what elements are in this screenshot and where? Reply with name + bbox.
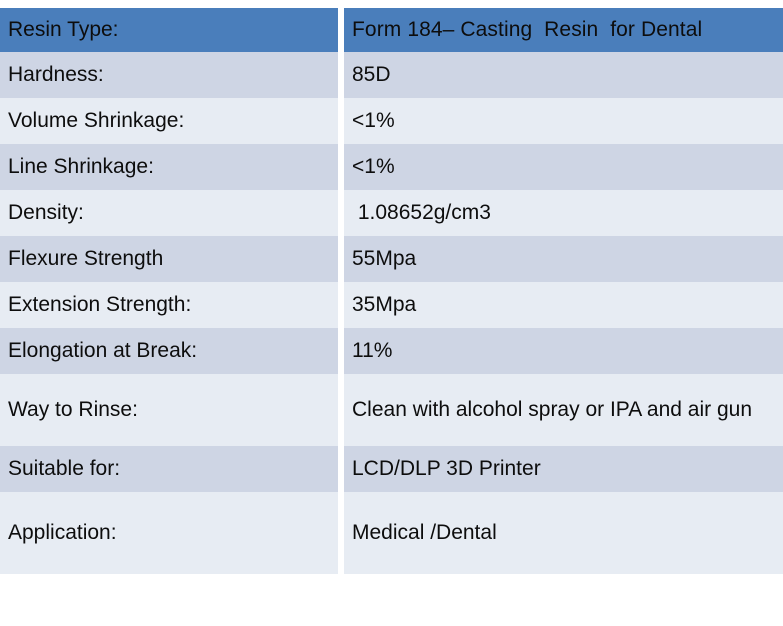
row-value-density: 1.08652g/cm3 [344,190,783,236]
row-value-suitable-for: LCD/DLP 3D Printer [344,446,783,492]
table-header-row: Resin Type: Form 184– Casting Resin for … [0,8,783,52]
row-label-way-to-rinse: Way to Rinse: [0,374,338,446]
row-value-application: Medical /Dental [344,492,783,574]
table-row: Hardness: 85D [0,52,783,98]
row-value-line-shrinkage: <1% [344,144,783,190]
table-row: Volume Shrinkage: <1% [0,98,783,144]
table-row: Extension Strength: 35Mpa [0,282,783,328]
table-row: Line Shrinkage: <1% [0,144,783,190]
row-value-way-to-rinse: Clean with alcohol spray or IPA and air … [344,374,783,446]
table-row: Elongation at Break: 11% [0,328,783,374]
row-label-elongation-at-break: Elongation at Break: [0,328,338,374]
row-value-hardness: 85D [344,52,783,98]
row-label-suitable-for: Suitable for: [0,446,338,492]
table-row: Application: Medical /Dental [0,492,783,574]
header-label-cell: Resin Type: [0,8,338,52]
row-label-hardness: Hardness: [0,52,338,98]
table-row: Density: 1.08652g/cm3 [0,190,783,236]
table-row: Flexure Strength 55Mpa [0,236,783,282]
row-label-flexure-strength: Flexure Strength [0,236,338,282]
resin-specification-table: Resin Type: Form 184– Casting Resin for … [0,8,783,574]
row-value-volume-shrinkage: <1% [344,98,783,144]
row-label-application: Application: [0,492,338,574]
row-value-extension-strength: 35Mpa [344,282,783,328]
row-label-volume-shrinkage: Volume Shrinkage: [0,98,338,144]
row-label-density: Density: [0,190,338,236]
table-body: Resin Type: Form 184– Casting Resin for … [0,8,783,574]
row-value-elongation-at-break: 11% [344,328,783,374]
table-row: Suitable for: LCD/DLP 3D Printer [0,446,783,492]
table-row: Way to Rinse: Clean with alcohol spray o… [0,374,783,446]
header-value-cell: Form 184– Casting Resin for Dental [344,8,783,52]
row-label-extension-strength: Extension Strength: [0,282,338,328]
row-label-line-shrinkage: Line Shrinkage: [0,144,338,190]
row-value-flexure-strength: 55Mpa [344,236,783,282]
